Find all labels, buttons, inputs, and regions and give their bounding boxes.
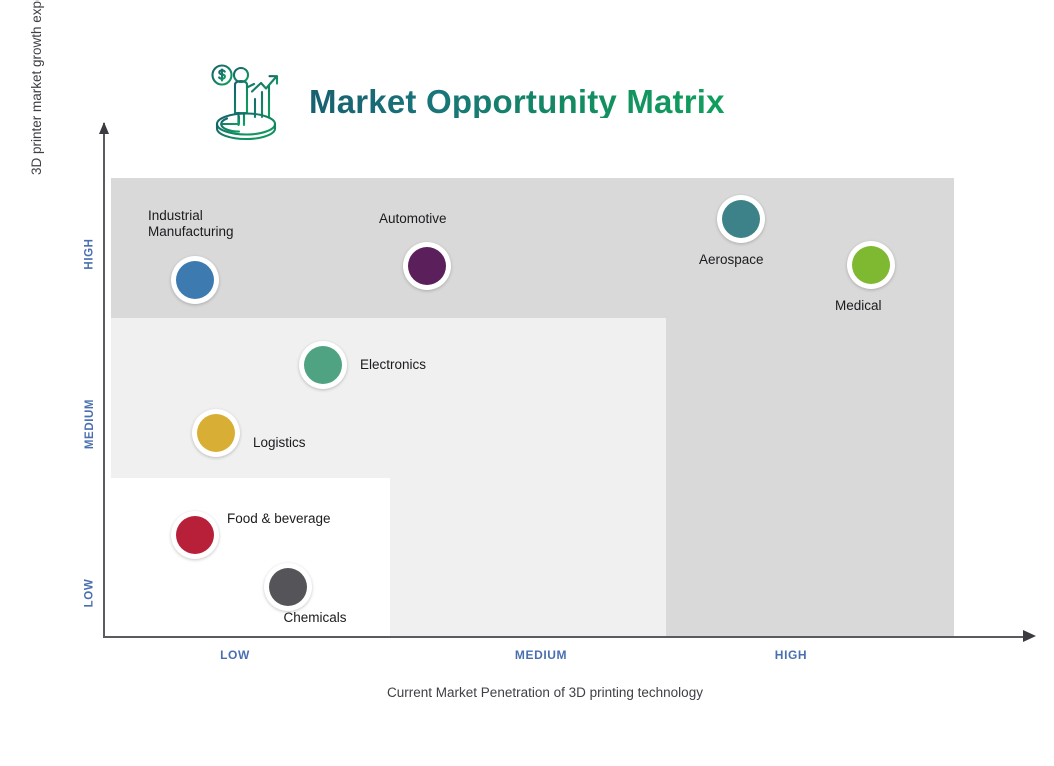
bubble-label-electronics: Electronics <box>360 357 500 373</box>
x-tick-medium: MEDIUM <box>515 648 567 662</box>
bubble-automotive[interactable] <box>403 242 451 290</box>
bubble-fill <box>176 516 214 554</box>
x-axis-line <box>103 636 1025 638</box>
bubble-fill <box>722 200 760 238</box>
bubble-fill <box>197 414 235 452</box>
bubble-fill <box>304 346 342 384</box>
y-tick-medium: MEDIUM <box>84 399 96 449</box>
y-tick-low: LOW <box>83 579 95 608</box>
region-high-penetration <box>666 318 954 637</box>
x-axis-title: Current Market Penetration of 3D printin… <box>103 685 987 700</box>
bubble-label-food-and-beverage: Food & beverage <box>227 511 407 527</box>
x-tick-low: LOW <box>220 648 250 662</box>
region-medium-growth <box>111 318 666 478</box>
bubble-label-chemicals: Chemicals <box>245 610 385 626</box>
slide-canvas: Market Opportunity Matrix 3D printer mar… <box>0 0 1054 766</box>
bubble-electronics[interactable] <box>299 341 347 389</box>
page-title: Market Opportunity Matrix <box>309 85 725 118</box>
y-axis-title: 3D printer market growth expectation for… <box>29 0 44 175</box>
bubble-label-automotive: Automotive <box>379 211 519 227</box>
x-tick-high: HIGH <box>775 648 807 662</box>
bubble-label-aerospace: Aerospace <box>699 252 849 268</box>
bubble-fill <box>852 246 890 284</box>
y-axis-line <box>103 123 105 637</box>
bubble-fill <box>176 261 214 299</box>
chart-plot-area: 3D printer market growth expectation for… <box>103 115 1035 640</box>
bubble-medical[interactable] <box>847 241 895 289</box>
bubble-fill <box>269 568 307 606</box>
region-medium-penetration <box>390 478 666 637</box>
bubble-logistics[interactable] <box>192 409 240 457</box>
region-high-growth <box>111 178 954 318</box>
bubble-fill <box>408 247 446 285</box>
bubble-industrial-manufacturing[interactable] <box>171 256 219 304</box>
x-axis-arrow-icon <box>1023 630 1036 642</box>
y-axis-arrow-icon <box>99 122 109 134</box>
y-tick-high: HIGH <box>84 238 96 269</box>
bubble-food-and-beverage[interactable] <box>171 511 219 559</box>
bubble-chemicals[interactable] <box>264 563 312 611</box>
bubble-label-medical: Medical <box>835 298 955 314</box>
bubble-aerospace[interactable] <box>717 195 765 243</box>
bubble-label-logistics: Logistics <box>253 435 383 451</box>
bubble-label-industrial-manufacturing: Industrial Manufacturing <box>148 208 308 240</box>
